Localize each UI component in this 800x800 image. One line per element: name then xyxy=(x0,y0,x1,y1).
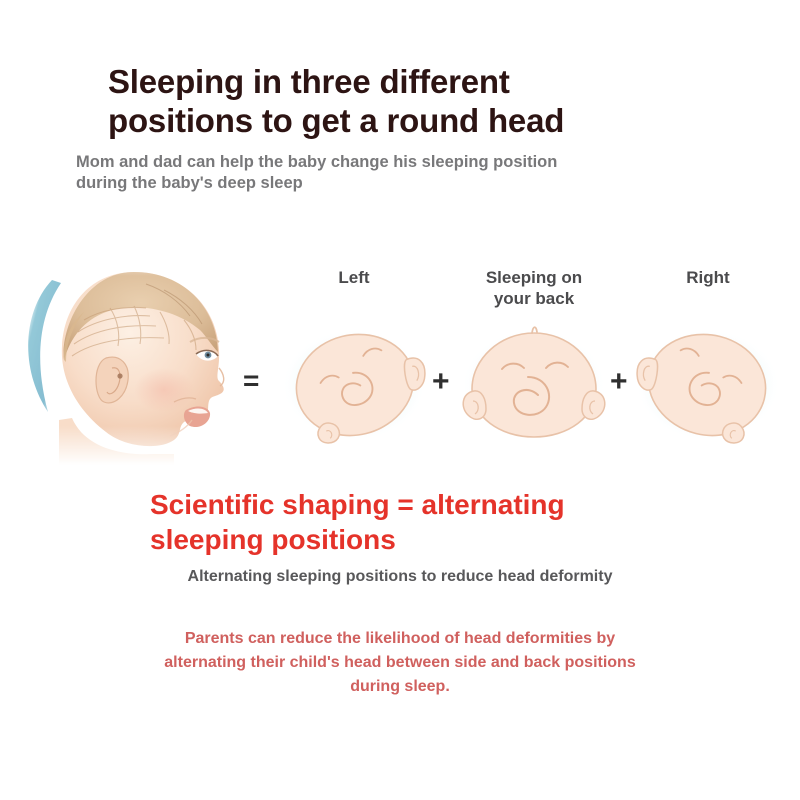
position-cell-left: Left xyxy=(268,245,440,475)
position-cell-back: Sleeping on your back xyxy=(448,245,620,475)
page-subtitle-line2: during the baby's deep sleep xyxy=(76,173,730,194)
gray-tagline: Alternating sleeping positions to reduce… xyxy=(0,567,800,587)
red-headline-line2: sleeping positions xyxy=(150,522,700,557)
red-headline: Scientific shaping = alternating sleepin… xyxy=(0,487,800,557)
infographic-page: Sleeping in three different positions to… xyxy=(0,0,800,800)
baby-profile-photo-svg xyxy=(14,250,244,465)
position-label-right-line1: Right xyxy=(686,268,729,287)
sleep-position-diagram: = + + Left xyxy=(0,245,800,475)
position-label-left: Left xyxy=(268,267,440,288)
bottom-note-line1: Parents can reduce the likelihood of hea… xyxy=(185,630,615,647)
page-title: Sleeping in three different positions to… xyxy=(90,62,710,140)
page-title-line1: Sleeping in three different xyxy=(108,63,510,100)
position-label-left-line1: Left xyxy=(338,268,369,287)
position-label-back-line2: your back xyxy=(448,288,620,309)
equals-operator: = xyxy=(243,367,259,395)
bottom-note-line2: alternating their child's head between s… xyxy=(0,651,800,675)
baby-profile-photo xyxy=(14,250,244,465)
position-label-back: Sleeping on your back xyxy=(448,267,620,309)
page-subtitle-line1: Mom and dad can help the baby change his… xyxy=(76,153,557,171)
header-block: Sleeping in three different positions to… xyxy=(0,62,800,194)
baby-head-turned-right-icon xyxy=(622,313,794,463)
position-label-right: Right xyxy=(622,267,794,288)
baby-head-turned-left-icon xyxy=(268,313,440,463)
page-subtitle: Mom and dad can help the baby change his… xyxy=(70,152,730,194)
red-headline-line1: Scientific shaping = alternating xyxy=(150,489,565,520)
bottom-note: Parents can reduce the likelihood of hea… xyxy=(0,627,800,699)
bottom-note-line3: during sleep. xyxy=(0,675,800,699)
page-title-line2: positions to get a round head xyxy=(108,101,710,140)
baby-head-back-icon xyxy=(448,313,620,463)
position-cell-right: Right xyxy=(622,245,794,475)
position-label-back-line1: Sleeping on xyxy=(486,268,582,287)
head-shape-arc-icon xyxy=(28,280,61,412)
